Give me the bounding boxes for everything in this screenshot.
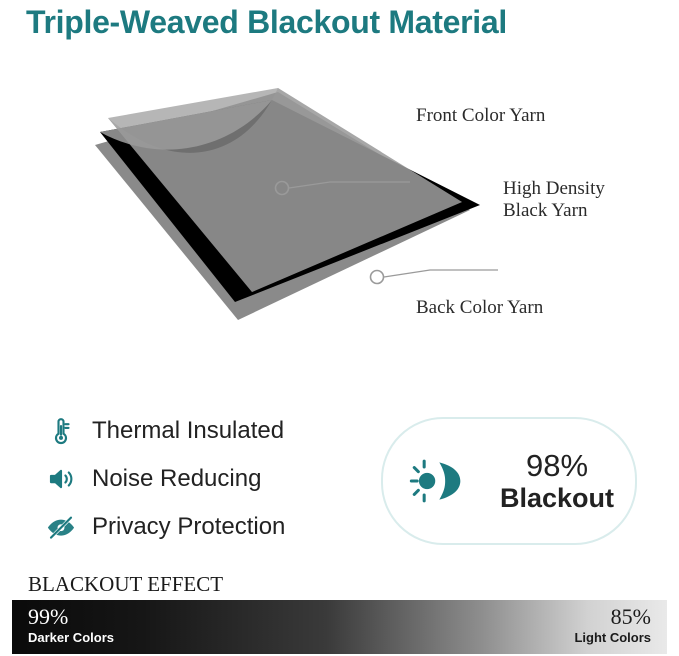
effect-right-label: Light Colors [574,630,651,646]
eye-off-icon [44,510,78,544]
feature-item-thermal-insulated: Thermal Insulated [44,408,374,453]
callout-label-high-density: High Density Black Yarn [503,178,605,222]
effect-right-group: 85% Light Colors [574,604,651,646]
fabric-layers-diagram: Front Color Yarn High Density Black Yarn… [0,70,679,360]
feature-item-privacy-protection: Privacy Protection [44,504,374,549]
blackout-effect-heading: BLACKOUT EFFECT [28,572,223,597]
thermometer-icon [44,414,78,448]
blackout-badge: 98% Blackout [381,417,637,545]
callout-dot-high-density [371,271,384,284]
effect-left-percent: 99% [28,604,114,630]
speaker-icon [44,462,78,496]
blackout-percent: 98% [526,448,588,483]
sun-block-icon [409,453,465,509]
feature-label-thermal-insulated: Thermal Insulated [92,417,284,445]
feature-item-noise-reducing: Noise Reducing [44,456,374,501]
callout-line-high-density [384,270,498,277]
blackout-badge-text: 98% Blackout [479,449,635,513]
callout-label-front: Front Color Yarn [416,105,545,127]
callout-label-back: Back Color Yarn [416,297,543,319]
callout-label-high-density-line1: High Density [503,178,605,200]
feature-list: Thermal Insulated Noise Reducing Privacy… [44,408,374,552]
effect-left-group: 99% Darker Colors [28,604,114,646]
effect-left-label: Darker Colors [28,630,114,646]
blackout-word: Blackout [500,483,614,513]
page-title: Triple-Weaved Blackout Material [26,4,507,41]
effect-right-percent: 85% [574,604,651,630]
callout-label-high-density-line2: Black Yarn [503,200,605,222]
feature-label-noise-reducing: Noise Reducing [92,465,261,493]
blackout-effect-bar: 99% Darker Colors 85% Light Colors [12,600,667,654]
feature-label-privacy-protection: Privacy Protection [92,513,285,541]
